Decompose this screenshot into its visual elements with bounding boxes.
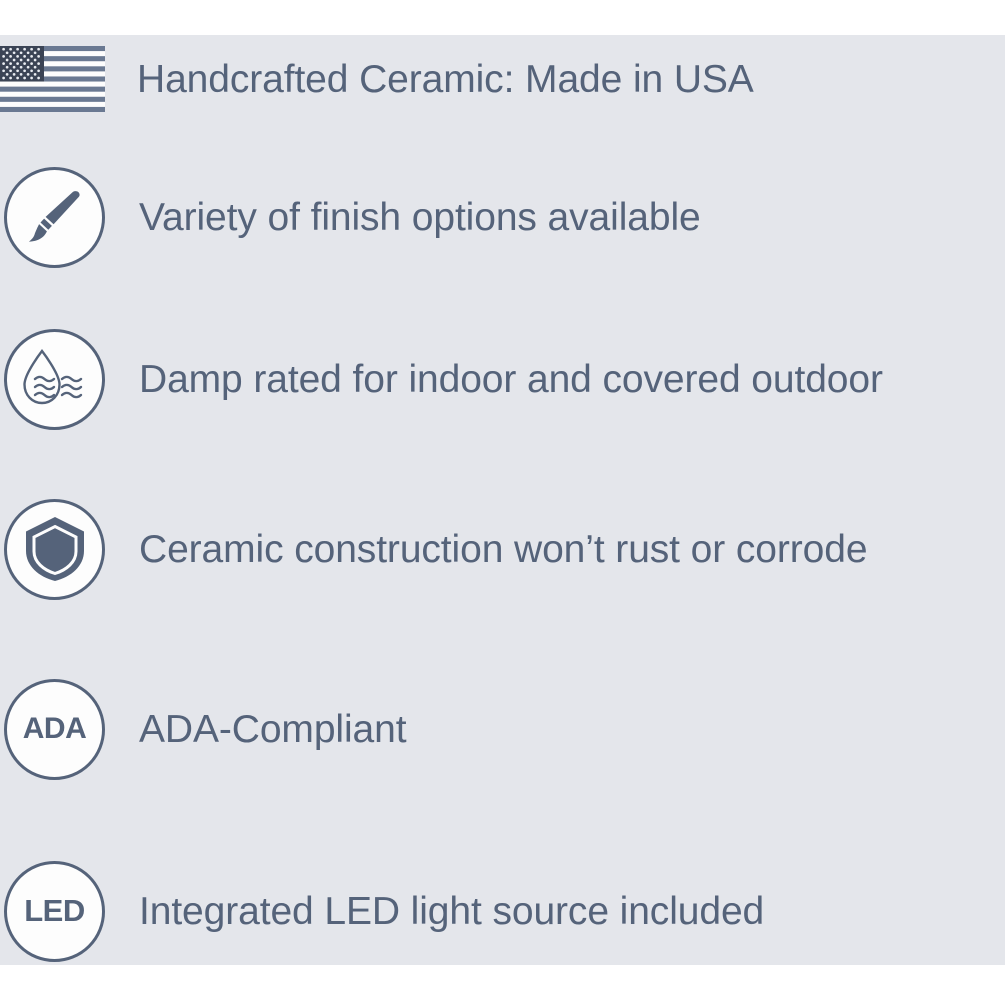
feature-row: Ceramic construction won’t rust or corro… bbox=[0, 495, 1005, 603]
icon-circle bbox=[4, 329, 105, 430]
usa-flag-icon bbox=[0, 35, 105, 132]
led-badge-icon: LED bbox=[2, 859, 107, 964]
feature-row: Variety of finish options available bbox=[0, 163, 1005, 271]
water-drop-svg bbox=[18, 345, 92, 413]
feature-label: ADA-Compliant bbox=[139, 710, 406, 749]
flag-svg bbox=[0, 46, 105, 112]
ada-badge-icon: ADA bbox=[2, 677, 107, 782]
icon-circle bbox=[4, 167, 105, 268]
feature-row: Handcrafted Ceramic: Made in USA bbox=[0, 35, 1005, 133]
feature-panel: Handcrafted Ceramic: Made in USA Variety… bbox=[0, 35, 1005, 965]
feature-label: Handcrafted Ceramic: Made in USA bbox=[137, 60, 754, 99]
led-badge-label: LED bbox=[24, 893, 85, 929]
product-feature-list-screen: Handcrafted Ceramic: Made in USA Variety… bbox=[0, 0, 1005, 1005]
feature-label: Integrated LED light source included bbox=[139, 892, 764, 931]
feature-label: Damp rated for indoor and covered outdoo… bbox=[139, 360, 883, 399]
icon-circle bbox=[4, 499, 105, 600]
feature-label: Ceramic construction won’t rust or corro… bbox=[139, 530, 867, 569]
ada-badge-label: ADA bbox=[23, 712, 87, 746]
paintbrush-icon bbox=[2, 165, 107, 270]
feature-row: LED Integrated LED light source included bbox=[0, 857, 1005, 965]
icon-circle: LED bbox=[4, 861, 105, 962]
shield-svg bbox=[25, 516, 85, 582]
flag-graphic bbox=[0, 46, 105, 112]
feature-row: Damp rated for indoor and covered outdoo… bbox=[0, 325, 1005, 433]
water-drop-damp-rated-icon bbox=[2, 327, 107, 432]
paintbrush-svg bbox=[24, 186, 86, 248]
icon-circle: ADA bbox=[4, 679, 105, 780]
feature-row: ADA ADA-Compliant bbox=[0, 675, 1005, 783]
shield-icon bbox=[2, 497, 107, 602]
feature-label: Variety of finish options available bbox=[139, 198, 701, 237]
